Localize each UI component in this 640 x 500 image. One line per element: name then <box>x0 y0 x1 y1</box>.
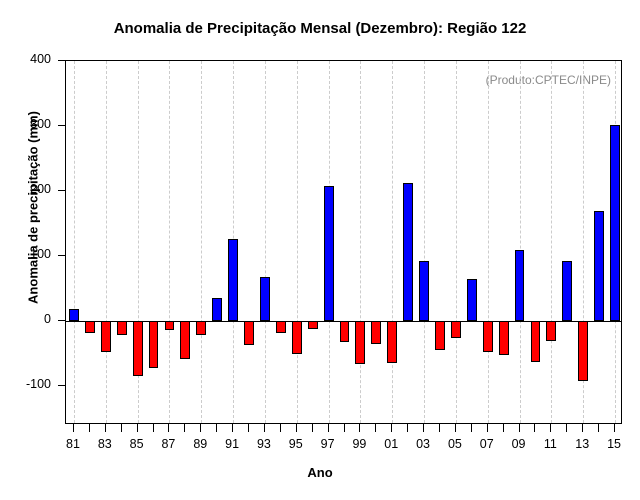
x-tick-mark <box>328 424 329 432</box>
x-tick-mark <box>487 424 488 432</box>
x-tick-mark <box>503 424 504 432</box>
x-tick-mark <box>519 424 520 432</box>
x-tick-mark <box>534 424 535 432</box>
x-tick-label: 83 <box>90 437 120 451</box>
x-tick-mark <box>280 424 281 432</box>
x-tick-mark <box>550 424 551 432</box>
x-tick-mark <box>582 424 583 432</box>
x-tick-mark <box>248 424 249 432</box>
x-tick-label: 05 <box>440 437 470 451</box>
y-axis-title: Anomalia de precipitação (mm) <box>26 83 41 333</box>
x-tick-label: 89 <box>185 437 215 451</box>
x-tick-label: 11 <box>535 437 565 451</box>
x-tick-mark <box>614 424 615 432</box>
x-tick-mark <box>344 424 345 432</box>
x-tick-mark <box>264 424 265 432</box>
y-tick-label: -100 <box>5 377 51 391</box>
x-tick-mark <box>598 424 599 432</box>
x-tick-mark <box>566 424 567 432</box>
x-tick-mark <box>439 424 440 432</box>
x-tick-mark <box>455 424 456 432</box>
x-tick-label: 09 <box>504 437 534 451</box>
x-tick-mark <box>168 424 169 432</box>
x-tick-mark <box>89 424 90 432</box>
x-tick-label: 85 <box>122 437 152 451</box>
x-tick-label: 07 <box>472 437 502 451</box>
x-tick-label: 15 <box>599 437 629 451</box>
y-tick-mark <box>58 385 65 386</box>
x-tick-mark <box>153 424 154 432</box>
x-tick-mark <box>105 424 106 432</box>
x-tick-mark <box>121 424 122 432</box>
x-tick-label: 91 <box>217 437 247 451</box>
x-tick-label: 03 <box>408 437 438 451</box>
x-tick-mark <box>73 424 74 432</box>
x-tick-mark <box>359 424 360 432</box>
x-tick-label: 93 <box>249 437 279 451</box>
x-tick-label: 99 <box>344 437 374 451</box>
x-tick-mark <box>232 424 233 432</box>
y-tick-mark <box>58 255 65 256</box>
y-axis: 4003002001000-100 <box>0 0 640 500</box>
x-tick-label: 81 <box>58 437 88 451</box>
y-tick-mark <box>58 190 65 191</box>
x-tick-label: 01 <box>376 437 406 451</box>
x-tick-label: 97 <box>313 437 343 451</box>
x-tick-mark <box>200 424 201 432</box>
x-tick-mark <box>296 424 297 432</box>
y-tick-mark <box>58 60 65 61</box>
x-tick-mark <box>471 424 472 432</box>
y-tick-label: 400 <box>5 52 51 66</box>
y-tick-mark <box>58 125 65 126</box>
x-tick-mark <box>184 424 185 432</box>
x-tick-label: 13 <box>567 437 597 451</box>
y-tick-mark <box>58 320 65 321</box>
x-tick-mark <box>375 424 376 432</box>
chart-container: Anomalia de Precipitação Mensal (Dezembr… <box>0 0 640 500</box>
x-tick-mark <box>407 424 408 432</box>
x-tick-mark <box>423 424 424 432</box>
x-tick-label: 87 <box>153 437 183 451</box>
x-axis-title: Ano <box>0 465 640 480</box>
x-tick-mark <box>137 424 138 432</box>
x-tick-label: 95 <box>281 437 311 451</box>
x-tick-mark <box>312 424 313 432</box>
x-tick-mark <box>391 424 392 432</box>
x-tick-mark <box>216 424 217 432</box>
